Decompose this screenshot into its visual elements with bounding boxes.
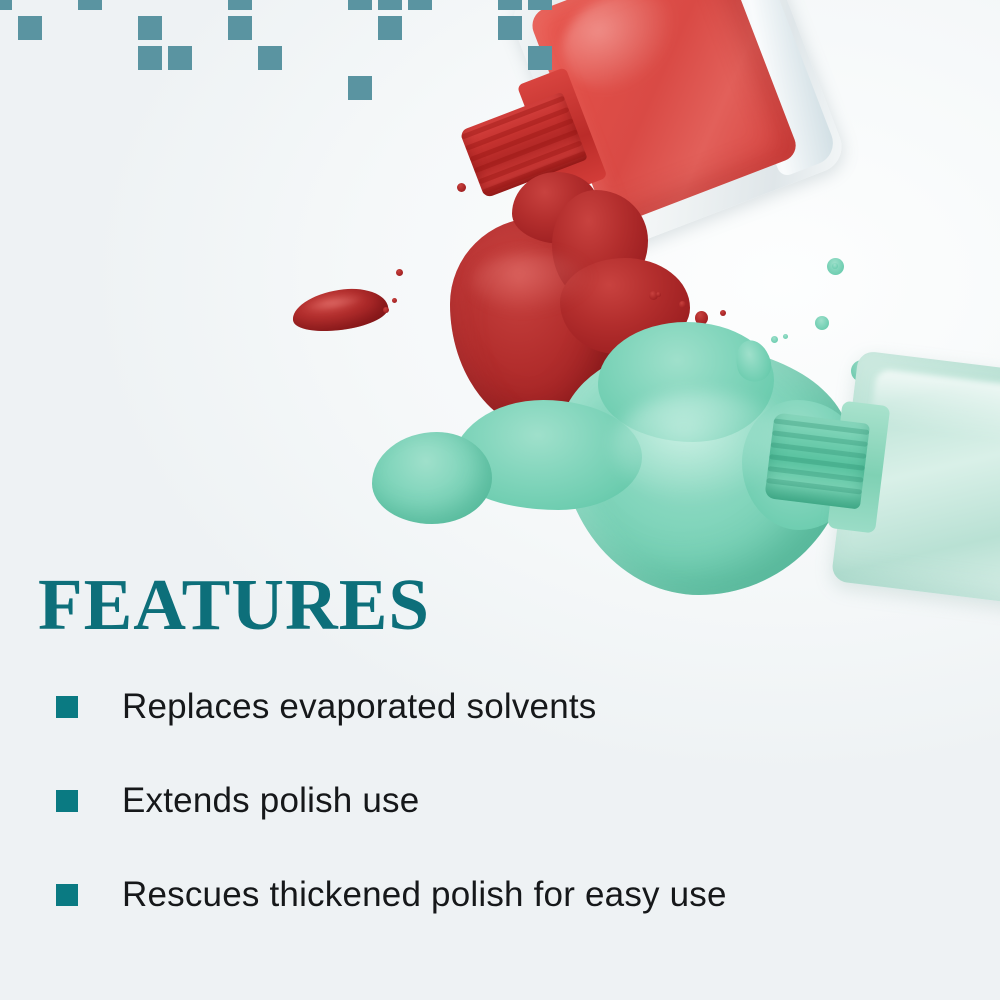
pixel-square bbox=[18, 16, 42, 40]
red-droplet bbox=[679, 301, 686, 308]
bullet-square-icon bbox=[56, 790, 78, 812]
pixel-square bbox=[168, 46, 192, 70]
pixel-square bbox=[528, 0, 552, 10]
pixel-square bbox=[348, 0, 372, 10]
pixel-square bbox=[408, 0, 432, 10]
green-polish-bottle bbox=[746, 334, 1000, 620]
pixel-square bbox=[228, 0, 252, 10]
product-feature-banner: FEATURES Replaces evaporated solvents Ex… bbox=[0, 0, 1000, 1000]
red-polish-streak bbox=[289, 283, 390, 338]
red-spill-gloss bbox=[472, 252, 592, 312]
pixel-square bbox=[348, 76, 372, 100]
feature-list: Replaces evaporated solvents Extends pol… bbox=[56, 684, 956, 966]
red-droplet bbox=[392, 298, 397, 303]
pixel-square bbox=[78, 0, 102, 10]
green-polish-spill-lobe bbox=[372, 432, 492, 524]
feature-text: Extends polish use bbox=[122, 781, 419, 821]
red-droplet bbox=[457, 183, 466, 192]
bullet-square-icon bbox=[56, 884, 78, 906]
green-droplet bbox=[815, 316, 829, 330]
list-item: Rescues thickened polish for easy use bbox=[56, 872, 956, 918]
pixel-square bbox=[228, 16, 252, 40]
bullet-square-icon bbox=[56, 696, 78, 718]
pixel-square bbox=[498, 16, 522, 40]
list-item: Replaces evaporated solvents bbox=[56, 684, 956, 730]
red-droplet bbox=[656, 292, 661, 297]
pixel-square bbox=[138, 16, 162, 40]
pixel-square bbox=[138, 46, 162, 70]
feature-text: Rescues thickened polish for easy use bbox=[122, 875, 727, 915]
red-droplet bbox=[720, 310, 726, 316]
pixel-square bbox=[0, 0, 12, 10]
green-droplet bbox=[832, 263, 838, 269]
pixel-square bbox=[258, 46, 282, 70]
pixel-square bbox=[528, 46, 552, 70]
pixel-square bbox=[378, 0, 402, 10]
pixel-square bbox=[498, 0, 522, 10]
pixel-square-pattern bbox=[0, 0, 340, 130]
red-droplet bbox=[383, 307, 389, 313]
list-item: Extends polish use bbox=[56, 778, 956, 824]
red-droplet bbox=[396, 269, 403, 276]
page-title: FEATURES bbox=[38, 568, 430, 641]
pixel-square bbox=[378, 16, 402, 40]
feature-text: Replaces evaporated solvents bbox=[122, 687, 597, 727]
